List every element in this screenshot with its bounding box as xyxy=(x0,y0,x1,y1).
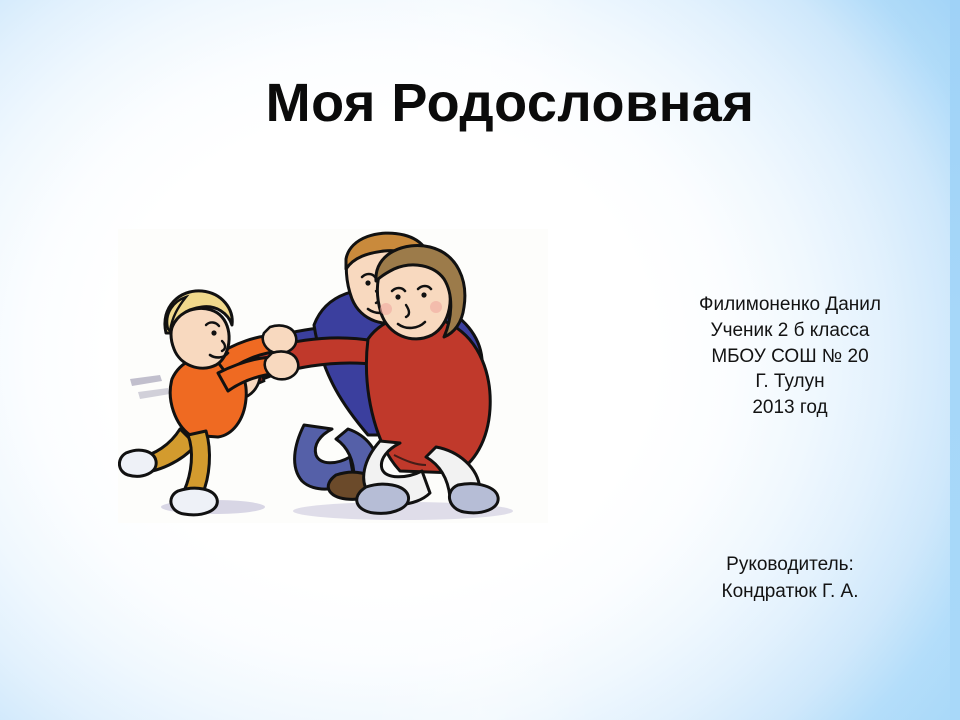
presentation-slide: Моя Родословная xyxy=(0,0,960,720)
family-embrace-icon xyxy=(118,229,548,523)
author-line: Филимоненко Данил xyxy=(640,292,940,318)
author-line: Ученик 2 б класса xyxy=(640,318,940,344)
page-title: Моя Родословная xyxy=(0,72,960,134)
supervisor-name: Кондратюк Г. А. xyxy=(640,579,940,606)
author-info-block: Филимоненко Данил Ученик 2 б класса МБОУ… xyxy=(640,292,940,421)
author-line: 2013 год xyxy=(640,395,940,421)
author-line: МБОУ СОШ № 20 xyxy=(640,344,940,370)
family-illustration xyxy=(118,229,548,523)
supervisor-info-block: Руководитель: Кондратюк Г. А. xyxy=(640,552,940,606)
supervisor-label: Руководитель: xyxy=(640,552,940,579)
author-line: Г. Тулун xyxy=(640,369,940,395)
